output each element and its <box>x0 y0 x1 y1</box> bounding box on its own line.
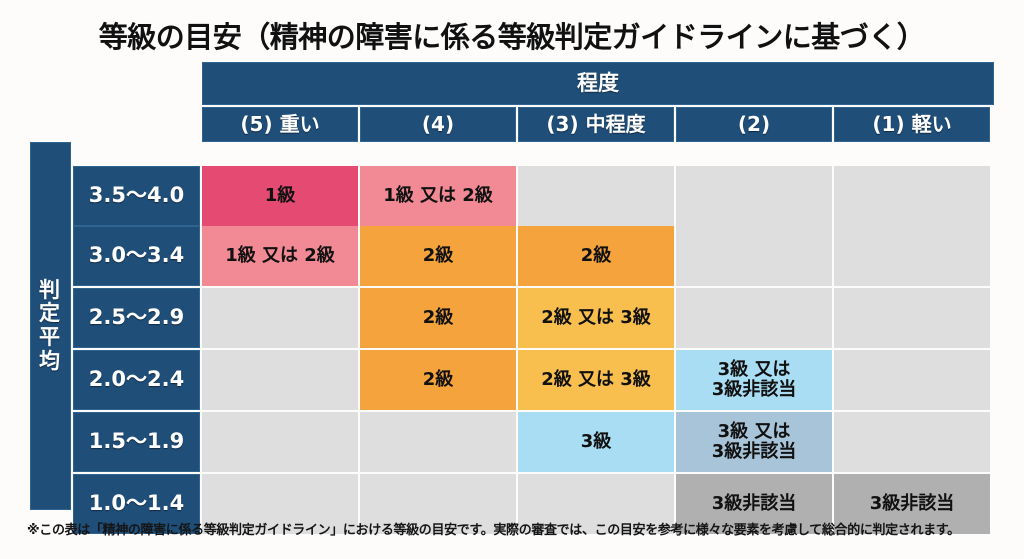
column-axis-header-degree: 程度 <box>202 62 994 105</box>
column-header-1: (5) 重い <box>202 107 358 142</box>
grade-cell-r4-c5 <box>834 350 990 410</box>
grade-cell-r4-c4: 3級 又は 3級非該当 <box>676 350 832 410</box>
row-header-1: 3.5～4.0 <box>73 166 200 226</box>
grade-cell-r2-c3: 2級 <box>518 226 674 286</box>
grade-cell-r4-c1 <box>202 350 358 410</box>
grade-cell-r1-c4 <box>676 166 832 226</box>
grade-cell-r2-c4 <box>676 226 832 286</box>
grade-cell-r2-c1: 1級 又は 2級 <box>202 226 358 286</box>
grade-cell-r5-c3: 3級 <box>518 412 674 472</box>
grade-guideline-table: 程度 判 定 平 均 (5) 重い(4)(3) 中程度(2)(1) 軽い3.5～… <box>30 62 994 510</box>
grade-cell-r4-c3: 2級 又は 3級 <box>518 350 674 410</box>
row-axis-label-char-2: 定 <box>39 302 62 326</box>
row-axis-label-average: 判 定 平 均 <box>30 142 71 510</box>
grade-cell-r1-c2: 1級 又は 2級 <box>360 166 516 226</box>
page-title: 等級の目安（精神の障害に係る等級判定ガイドラインに基づく） <box>0 14 1024 56</box>
grade-cell-r3-c5 <box>834 288 990 348</box>
column-header-3: (3) 中程度 <box>518 107 674 142</box>
grade-cell-r3-c1 <box>202 288 358 348</box>
grade-cell-r5-c5 <box>834 412 990 472</box>
row-header-4: 2.0～2.4 <box>73 350 200 410</box>
grade-cell-r5-c2 <box>360 412 516 472</box>
column-header-5: (1) 軽い <box>834 107 990 142</box>
grade-cell-r3-c3: 2級 又は 3級 <box>518 288 674 348</box>
grade-cell-r3-c2: 2級 <box>360 288 516 348</box>
row-axis-label-char-4: 均 <box>39 350 62 374</box>
row-header-2: 3.0～3.4 <box>73 226 200 286</box>
column-header-2: (4) <box>360 107 516 142</box>
row-header-5: 1.5～1.9 <box>73 412 200 472</box>
grade-cell-r1-c5 <box>834 166 990 226</box>
grade-cell-r2-c5 <box>834 226 990 286</box>
grade-cell-r3-c4 <box>676 288 832 348</box>
grade-cell-r1-c3 <box>518 166 674 226</box>
grade-cell-r5-c1 <box>202 412 358 472</box>
column-header-4: (2) <box>676 107 832 142</box>
grade-cell-r5-c4: 3級 又は 3級非該当 <box>676 412 832 472</box>
grade-cell-r1-c1: 1級 <box>202 166 358 226</box>
row-header-3: 2.5～2.9 <box>73 288 200 348</box>
grade-cell-r2-c2: 2級 <box>360 226 516 286</box>
row-axis-label-char-3: 平 <box>39 326 62 350</box>
footnote: ※この表は「精神の障害に係る等級判定ガイドライン」における等級の目安です。実際の… <box>27 519 1007 538</box>
row-axis-label-char-1: 判 <box>39 279 62 303</box>
grade-cell-r4-c2: 2級 <box>360 350 516 410</box>
